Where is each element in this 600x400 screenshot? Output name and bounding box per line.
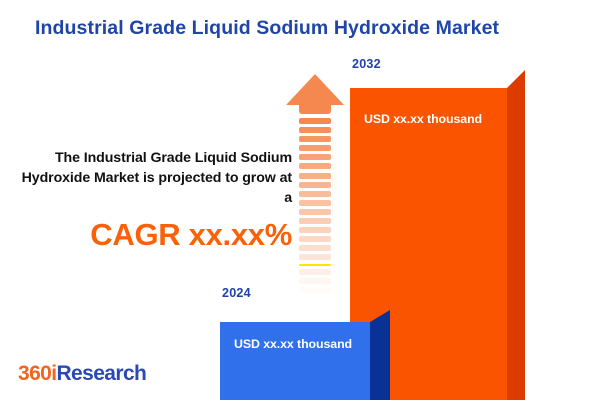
arrow-stripe bbox=[299, 118, 331, 124]
arrow-stripe bbox=[299, 145, 331, 151]
arrow-stripe bbox=[299, 173, 331, 179]
arrow-stripe bbox=[299, 227, 331, 233]
brand-logo: 360iResearch bbox=[18, 362, 146, 386]
market-infographic: Industrial Grade Liquid Sodium Hydroxide… bbox=[0, 0, 600, 400]
arrow-neck-shape bbox=[299, 104, 331, 114]
bar-2024-value-label: USD xx.xx thousand bbox=[234, 337, 352, 351]
bar-2024-front-face bbox=[220, 322, 370, 400]
bar-2024: USD xx.xx thousand bbox=[220, 310, 390, 400]
page-title: Industrial Grade Liquid Sodium Hydroxide… bbox=[35, 16, 575, 40]
arrow-stripe bbox=[299, 254, 331, 260]
arrow-stripe bbox=[299, 154, 331, 160]
arrow-stripe bbox=[299, 127, 331, 133]
cagr-value-text: CAGR xx.xx% bbox=[14, 218, 292, 252]
bar-2024-side-face bbox=[370, 310, 390, 400]
arrow-stripe bbox=[299, 278, 331, 284]
brand-logo-mark: 360i bbox=[18, 362, 56, 385]
bar-2032-side-face bbox=[507, 70, 525, 400]
bar-2032-value-label: USD xx.xx thousand bbox=[364, 112, 482, 126]
arrow-head-icon bbox=[286, 74, 344, 112]
cagr-statement-text: The Industrial Grade Liquid Sodium Hydro… bbox=[14, 148, 292, 208]
arrow-stripe bbox=[299, 287, 331, 293]
arrow-stripe-stack bbox=[299, 118, 331, 292]
arrow-stripe bbox=[299, 191, 331, 197]
cagr-statement-block: The Industrial Grade Liquid Sodium Hydro… bbox=[14, 148, 292, 252]
arrow-stripe bbox=[299, 209, 331, 215]
arrow-stripe bbox=[299, 200, 331, 206]
bar-2032-year-label: 2032 bbox=[352, 57, 381, 71]
arrow-stripe bbox=[299, 236, 331, 242]
arrow-stripe bbox=[299, 245, 331, 251]
arrow-stripe bbox=[299, 264, 331, 266]
arrow-stripe bbox=[299, 163, 331, 169]
arrow-stripe bbox=[299, 218, 331, 224]
arrow-stripe bbox=[299, 269, 331, 275]
brand-logo-word: Research bbox=[56, 362, 146, 385]
arrow-triangle-shape bbox=[286, 74, 344, 105]
bar-2024-year-label: 2024 bbox=[222, 286, 251, 300]
growth-arrow-icon bbox=[286, 74, 344, 292]
arrow-stripe bbox=[299, 182, 331, 188]
arrow-stripe bbox=[299, 136, 331, 142]
